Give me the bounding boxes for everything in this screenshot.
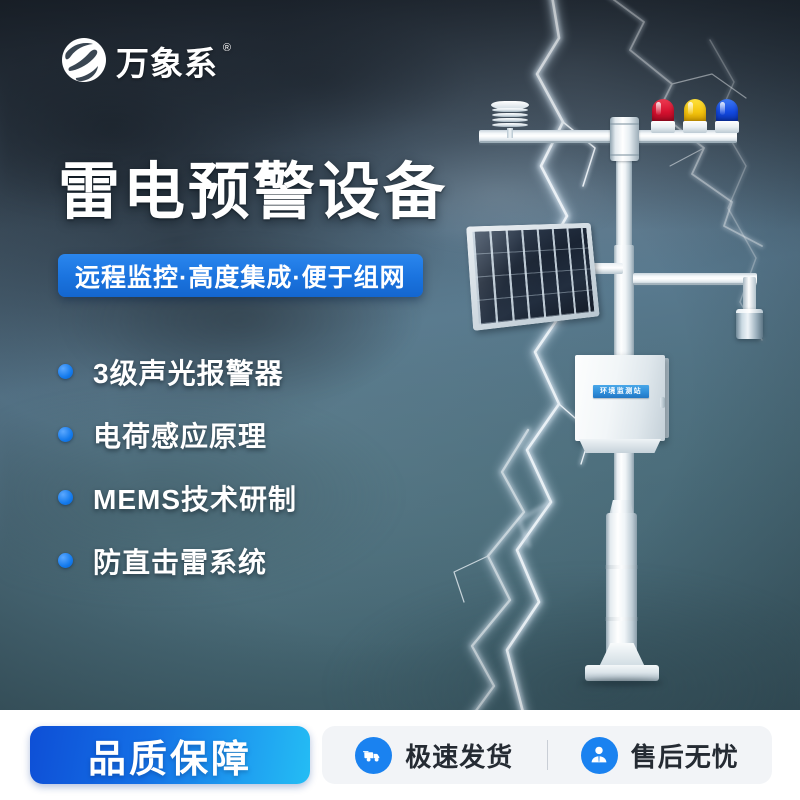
subtitle-badge-text: 远程监控·高度集成·便于组网 (75, 258, 406, 294)
service-label: 售后无忧 (631, 737, 739, 774)
shield-stem (507, 128, 513, 138)
shield-louver (492, 113, 528, 117)
list-item: MEMS技术研制 (58, 466, 418, 529)
wanxiang-circle-swoosh-logo-icon (60, 36, 108, 84)
feature-label: 防直击雷系统 (93, 541, 267, 581)
mast-band (605, 565, 638, 569)
radiation-shield-sensor-icon (490, 101, 530, 131)
blue-dot-bullet-icon (58, 427, 73, 442)
blue-dot-bullet-icon (58, 553, 73, 568)
yellow-lamp-base (683, 121, 707, 133)
blue-dot-bullet-icon (58, 490, 73, 505)
product-poster: 环境监测站 万象系 ® 雷电预警设备 远程监控·高度集成·便于组网 (0, 0, 800, 800)
feature-label: 3级声光报警器 (93, 352, 284, 392)
red-lamp-dome (652, 99, 674, 123)
brand-logo: 万象系 ® (60, 36, 218, 84)
yellow-alarm-lamp (683, 99, 707, 133)
service-panel: 极速发货 售后无忧 (322, 726, 772, 784)
equipment-enclosure (575, 355, 665, 441)
brand-name: 万象系 ® (116, 47, 218, 80)
bottom-trust-bar: 品质保障 极速发货 (0, 710, 800, 800)
hub-line-bottom (610, 154, 639, 156)
solar-panel (466, 223, 599, 331)
blue-alarm-lamp (715, 99, 739, 133)
brand-name-text: 万象系 (116, 45, 218, 82)
list-item: 防直击雷系统 (58, 529, 418, 592)
three-stage-alarm-lights (651, 99, 739, 135)
support-agent-icon (581, 737, 618, 774)
enclosure-label: 环境监测站 (593, 385, 649, 398)
feature-list: 3级声光报警器 电荷感应原理 MEMS技术研制 防直击雷系统 (58, 340, 418, 592)
subtitle-badge: 远程监控·高度集成·便于组网 (58, 254, 423, 297)
enclosure-label-text: 环境监测站 (600, 388, 642, 395)
red-alarm-lamp (651, 99, 675, 133)
registered-trademark-icon: ® (223, 43, 232, 54)
hub-line-top (610, 123, 639, 125)
list-item: 电荷感应原理 (58, 403, 418, 466)
delivery-truck-icon (355, 737, 392, 774)
feature-label: 电荷感应原理 (93, 415, 267, 455)
list-item: 3级声光报警器 (58, 340, 418, 403)
solar-panel-glass (472, 228, 594, 325)
quality-guarantee-label: 品质保障 (88, 728, 252, 783)
red-lamp-base (651, 121, 675, 133)
feature-label: MEMS技术研制 (93, 478, 297, 518)
yellow-lamp-dome (684, 99, 706, 123)
blue-dot-bullet-icon (58, 364, 73, 379)
enclosure-latch (660, 397, 665, 408)
shield-louver (492, 123, 528, 127)
quality-guarantee-pill: 品质保障 (30, 726, 310, 784)
blue-lamp-base (715, 121, 739, 133)
lightning-warning-station-product: 环境监测站 (455, 95, 785, 705)
mast-band (605, 617, 638, 621)
solar-panel-glare (472, 228, 594, 325)
blue-lamp-dome (716, 99, 738, 123)
base-ground-shadow (581, 679, 663, 686)
sensor-drop-arm (743, 277, 756, 313)
service-after-sales: 售后无忧 (548, 737, 773, 774)
shield-louver (492, 118, 528, 122)
service-fast-shipping: 极速发货 (322, 737, 547, 774)
service-label: 极速发货 (405, 737, 513, 774)
right-cross-arm-shadow (633, 283, 757, 287)
bottom-bar-content: 品质保障 极速发货 (30, 726, 772, 784)
cylinder-sensor (736, 309, 763, 339)
top-cross-arm-shadow (479, 141, 737, 146)
page-title: 雷电预警设备 (58, 162, 448, 224)
enclosure-bottom-skirt (579, 439, 661, 453)
shield-louver (492, 108, 528, 112)
